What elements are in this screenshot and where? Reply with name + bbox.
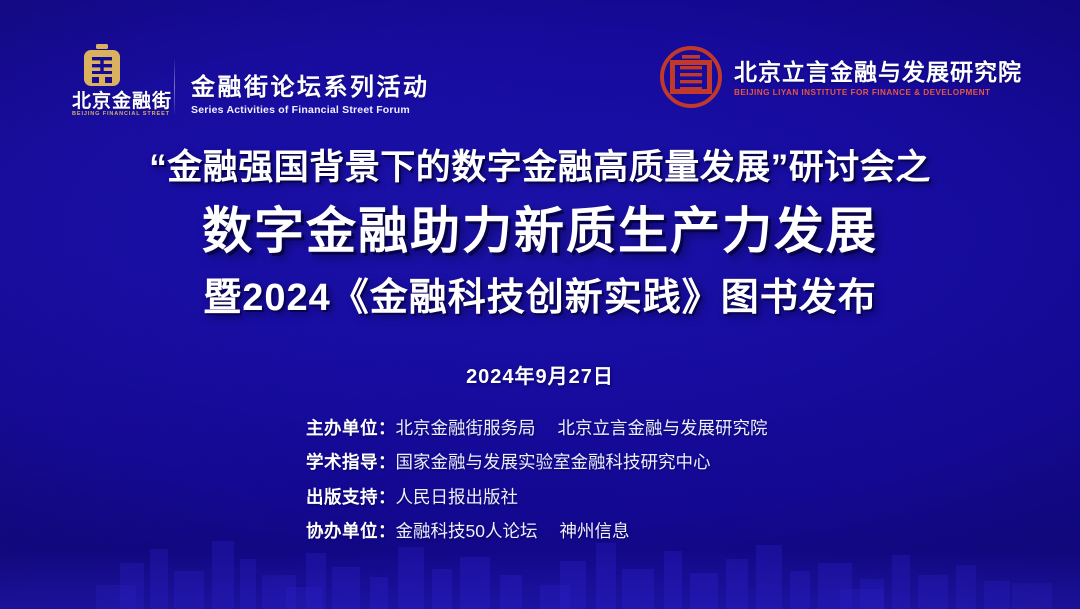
- conference-banner: 北京金融街 BEIJING FINANCIAL STREET 金融街论坛系列活动…: [0, 0, 1080, 609]
- credits-block: 主办单位 ： 北京金融街服务局 北京立言金融与发展研究院 学术指导 ： 国家金融…: [0, 415, 1080, 544]
- credit-label: 协办单位: [270, 518, 378, 544]
- title-line-2-main: 数字金融助力新质生产力发展: [0, 203, 1080, 259]
- bfs-text-block: 金融街论坛系列活动 Series Activities of Financial…: [191, 74, 430, 118]
- skyline-ground-glow: [0, 549, 1080, 609]
- credit-label: 主办单位: [270, 415, 378, 441]
- credit-colon: ：: [378, 484, 396, 510]
- credit-values: 金融科技50人论坛 神州信息: [396, 518, 630, 544]
- institute-name-cn: 北京立言金融与发展研究院: [734, 59, 1022, 85]
- credit-value: 神州信息: [559, 518, 629, 544]
- credit-value: 北京金融街服务局: [396, 415, 536, 441]
- bfs-mark-name-cn: 北京金融街: [72, 92, 158, 111]
- credit-row: 学术指导 ： 国家金融与发展实验室金融科技研究中心: [270, 449, 810, 475]
- institute-name-en: BEIJING LIYAN INSTITUTE FOR FINANCE & DE…: [734, 88, 1022, 97]
- credit-row: 协办单位 ： 金融科技50人论坛 神州信息: [270, 518, 810, 544]
- credit-value: 人民日报出版社: [396, 484, 519, 510]
- credit-value: 金融科技50人论坛: [396, 518, 538, 544]
- credit-label: 出版支持: [270, 484, 378, 510]
- logo-divider: [174, 60, 175, 114]
- logo-beijing-liyan-institute: 北京立言金融与发展研究院 BEIJING LIYAN INSTITUTE FOR…: [660, 46, 1022, 108]
- credit-label: 学术指导: [270, 449, 378, 475]
- forum-series-title-en: Series Activities of Financial Street Fo…: [191, 104, 430, 116]
- credit-colon: ：: [378, 518, 396, 544]
- beijing-financial-street-gate-icon: [72, 44, 132, 90]
- credit-value: 国家金融与发展实验室金融科技研究中心: [396, 449, 711, 475]
- credit-colon: ：: [378, 449, 396, 475]
- banner-header: 北京金融街 BEIJING FINANCIAL STREET 金融街论坛系列活动…: [0, 0, 1080, 130]
- banner-titles: “金融强国背景下的数字金融高质量发展”研讨会之 数字金融助力新质生产力发展 暨2…: [0, 148, 1080, 320]
- liyan-round-seal-icon: [660, 46, 722, 108]
- bfs-mark: 北京金融街 BEIJING FINANCIAL STREET: [72, 44, 158, 118]
- credit-value: 北京立言金融与发展研究院: [558, 415, 768, 441]
- credit-row: 出版支持 ： 人民日报出版社: [270, 484, 810, 510]
- liyan-text-block: 北京立言金融与发展研究院 BEIJING LIYAN INSTITUTE FOR…: [734, 57, 1022, 96]
- credit-values: 北京金融街服务局 北京立言金融与发展研究院: [396, 415, 768, 441]
- title-line-3-book-launch: 暨2024《金融科技创新实践》图书发布: [0, 277, 1080, 320]
- credit-colon: ：: [378, 415, 396, 441]
- logo-beijing-financial-street: 北京金融街 BEIJING FINANCIAL STREET 金融街论坛系列活动…: [72, 44, 430, 118]
- bfs-mark-name-en: BEIJING FINANCIAL STREET: [72, 112, 158, 118]
- credit-values: 国家金融与发展实验室金融科技研究中心: [396, 449, 711, 475]
- credit-row: 主办单位 ： 北京金融街服务局 北京立言金融与发展研究院: [270, 415, 810, 441]
- forum-series-title-cn: 金融街论坛系列活动: [191, 74, 430, 102]
- title-line-1: “金融强国背景下的数字金融高质量发展”研讨会之: [0, 148, 1080, 187]
- event-date: 2024年9月27日: [0, 360, 1080, 389]
- credit-values: 人民日报出版社: [396, 484, 519, 510]
